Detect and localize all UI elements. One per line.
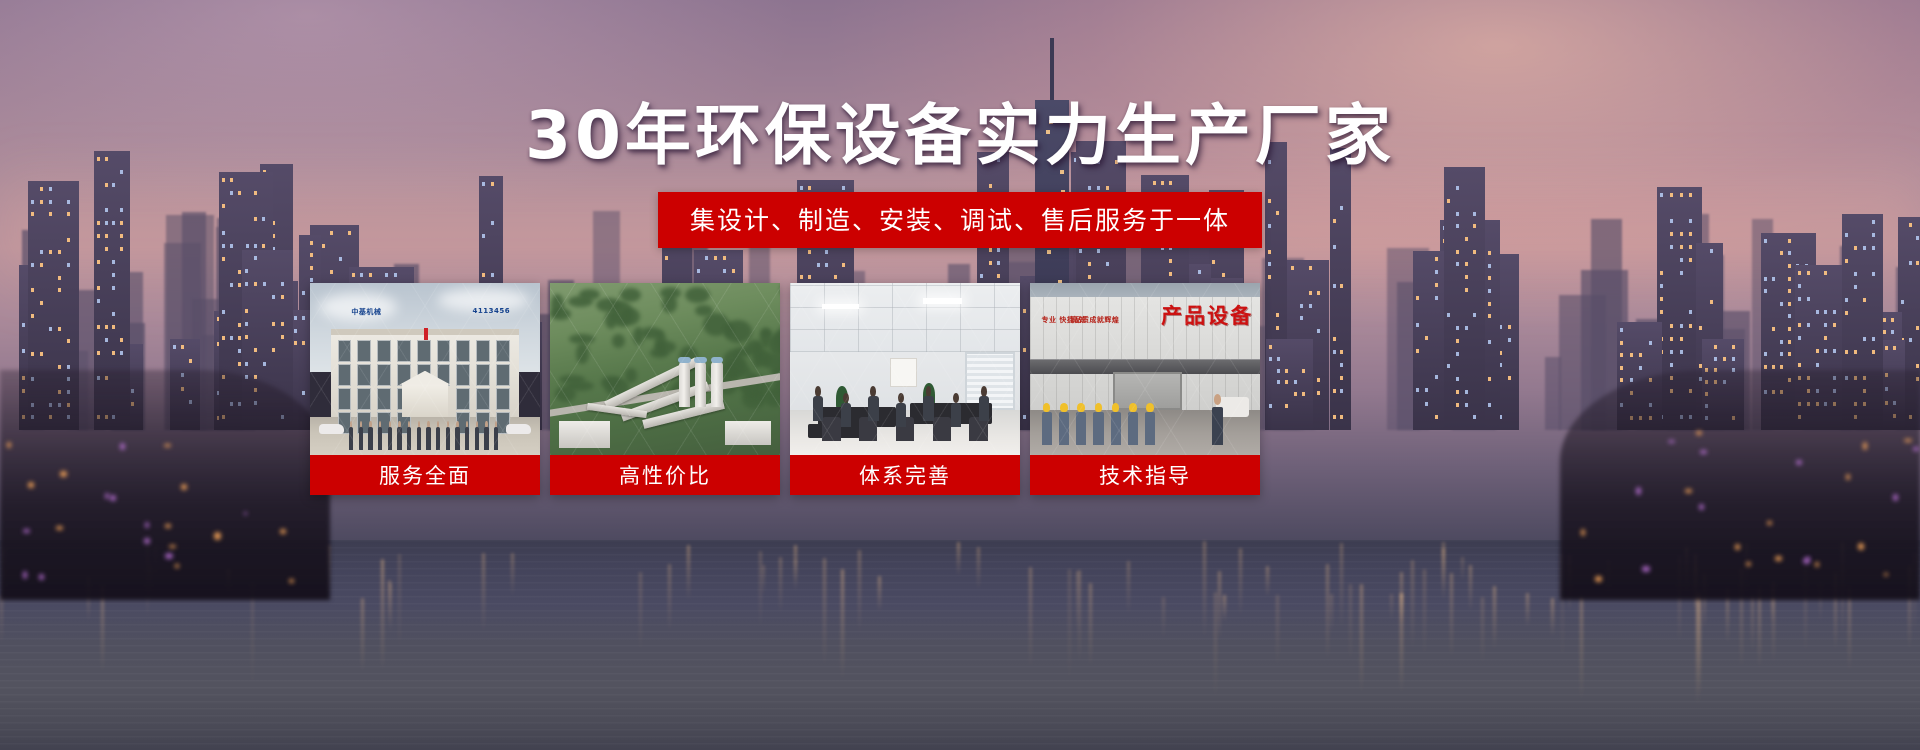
water-reflection xyxy=(1696,592,1699,705)
building-window xyxy=(357,340,371,362)
staff-person xyxy=(436,421,440,450)
building-window xyxy=(338,388,352,410)
shore-light xyxy=(244,512,247,515)
water-reflection xyxy=(1400,593,1403,622)
building-window xyxy=(456,388,470,410)
water-reflection xyxy=(687,545,690,600)
office-worker xyxy=(979,386,989,420)
card-2-photo xyxy=(550,283,780,455)
building-window xyxy=(338,364,352,386)
card-3-photo xyxy=(790,283,1020,455)
building-window xyxy=(377,340,391,362)
office-worker xyxy=(896,393,906,427)
feature-card-4[interactable]: 产品设备 专业 快捷品质 高效 成就辉煌 技术指导 xyxy=(1030,283,1260,495)
water-reflection xyxy=(1068,569,1071,682)
shore-light xyxy=(1775,556,1782,561)
staff-person xyxy=(359,421,363,450)
shore-light xyxy=(1796,460,1802,465)
water-reflection xyxy=(977,547,980,590)
water-reflection xyxy=(1423,569,1426,655)
parked-car xyxy=(506,424,531,434)
water-reflection xyxy=(1076,571,1079,633)
staff-person xyxy=(388,421,392,450)
tree-canopy xyxy=(612,334,626,348)
shore-light xyxy=(1815,562,1819,567)
water-reflection xyxy=(841,569,844,679)
subtitle-container: 集设计、制造、安装、调试、售后服务于一体 xyxy=(0,192,1920,248)
shore-light xyxy=(120,443,125,450)
office-chair xyxy=(969,417,987,441)
building-window xyxy=(476,340,490,362)
tree-canopy xyxy=(551,294,564,316)
staff-person xyxy=(378,421,382,450)
water-reflection xyxy=(482,553,485,633)
shore-light xyxy=(1893,494,1899,501)
water-reflection xyxy=(1848,588,1851,672)
tree-canopy xyxy=(685,287,710,303)
water-reflection xyxy=(398,554,401,650)
tree-canopy xyxy=(620,308,640,326)
water-reflection xyxy=(1340,543,1343,629)
building-window xyxy=(437,340,451,362)
building-window xyxy=(476,388,490,410)
building-window xyxy=(456,340,470,362)
building-window xyxy=(397,340,411,362)
shore-light xyxy=(1884,573,1888,576)
water-reflection xyxy=(794,559,797,583)
card-3-label: 体系完善 xyxy=(790,455,1020,495)
water-reflection xyxy=(1551,598,1554,636)
water-reflection xyxy=(1481,597,1484,664)
staff-person xyxy=(417,421,421,450)
tree-canopy xyxy=(605,311,617,329)
water-reflection xyxy=(668,564,671,633)
tree-canopy xyxy=(555,386,576,402)
water-reflection xyxy=(759,551,762,628)
water-reflection xyxy=(1390,594,1393,621)
shore-light xyxy=(1699,504,1704,510)
water-reflection xyxy=(1223,595,1226,621)
water-reflection xyxy=(1400,572,1403,626)
staff-person xyxy=(446,421,450,450)
water-reflection xyxy=(779,557,782,614)
factory-worker xyxy=(1093,400,1103,445)
feature-card-row: 中基机械 4113456 服务全面 xyxy=(310,283,1260,495)
card-2-label: 高性价比 xyxy=(550,455,780,495)
tree-canopy xyxy=(764,388,780,407)
water-reflection xyxy=(381,559,384,672)
building-window xyxy=(476,364,490,386)
feature-card-2[interactable]: 高性价比 xyxy=(550,283,780,495)
factory-worker xyxy=(1111,400,1121,445)
office-chair xyxy=(933,417,951,441)
water-reflection xyxy=(1089,583,1092,667)
shore-light xyxy=(280,529,285,534)
building-window xyxy=(496,364,510,386)
office-chair xyxy=(822,417,840,441)
water-reflection xyxy=(1029,567,1032,669)
card-4-photo: 产品设备 专业 快捷品质 高效 成就辉煌 xyxy=(1030,283,1260,455)
shore-right-trees xyxy=(1560,370,1920,600)
factory-worker xyxy=(1042,400,1052,445)
water-reflection xyxy=(1203,541,1206,638)
water-reflection xyxy=(1450,573,1453,659)
shore-light xyxy=(23,571,27,578)
water-reflection xyxy=(388,580,391,626)
shore-light xyxy=(1904,439,1911,443)
shore-light xyxy=(181,484,187,490)
water-reflection xyxy=(1266,566,1269,597)
water-reflection xyxy=(0,595,3,645)
tree-canopy xyxy=(620,288,641,302)
water-reflection xyxy=(1326,564,1329,659)
shore-light xyxy=(7,442,11,448)
building-window xyxy=(338,340,352,362)
office-worker xyxy=(868,386,878,420)
water-reflection xyxy=(1698,593,1701,697)
building-window xyxy=(496,388,510,410)
office-worker xyxy=(923,386,933,420)
water-reflection xyxy=(1276,595,1279,665)
water-reflection xyxy=(762,565,765,595)
feature-card-3[interactable]: 体系完善 xyxy=(790,283,1020,495)
building-window xyxy=(377,388,391,410)
water-reflection xyxy=(1239,548,1242,617)
shore-left-trees xyxy=(0,370,330,600)
subtitle-badge: 集设计、制造、安装、调试、售后服务于一体 xyxy=(658,192,1262,248)
feature-card-1[interactable]: 中基机械 4113456 服务全面 xyxy=(310,283,540,495)
factory-worker xyxy=(1059,400,1069,445)
office-worker xyxy=(951,393,961,427)
staff-person xyxy=(465,421,469,450)
factory-worker xyxy=(1076,400,1086,445)
shore-light xyxy=(165,524,171,527)
water-reflection xyxy=(878,576,881,612)
water-reflection xyxy=(823,558,826,666)
shore-light xyxy=(144,538,150,543)
water-reflection xyxy=(1411,560,1414,649)
factory-worker xyxy=(1145,400,1155,445)
water-reflection xyxy=(794,545,797,590)
card-4-factory-sign: 产品设备 xyxy=(1161,300,1253,330)
staff-person xyxy=(397,421,401,450)
water-reflection xyxy=(1442,542,1445,593)
building-window xyxy=(456,364,470,386)
tree-canopy xyxy=(724,320,752,343)
water-reflection xyxy=(858,550,861,634)
water-reflection xyxy=(389,583,392,633)
water-reflection xyxy=(1526,593,1529,627)
card-1-label: 服务全面 xyxy=(310,455,540,495)
shore-light xyxy=(110,495,115,501)
staff-person xyxy=(407,421,411,450)
water-reflection xyxy=(1078,570,1081,662)
card-1-phone-number: 4113456 xyxy=(473,307,511,315)
water-reflection xyxy=(1751,595,1754,653)
staff-person xyxy=(475,421,479,450)
water-reflection xyxy=(1469,565,1472,611)
shore-light xyxy=(60,471,66,478)
water-reflection xyxy=(361,598,364,673)
building-window xyxy=(377,364,391,386)
staff-person xyxy=(349,421,353,450)
tree-canopy xyxy=(559,375,585,384)
water-reflection xyxy=(1162,597,1165,638)
water-reflection xyxy=(1127,561,1130,615)
water-reflection xyxy=(1461,557,1464,582)
card-1-building-sign: 中基机械 xyxy=(351,307,381,317)
water-reflection xyxy=(1218,571,1221,640)
water-reflection xyxy=(1758,588,1761,669)
tree-canopy xyxy=(579,289,599,300)
promo-banner: 30年环保设备实力生产厂家 集设计、制造、安装、调试、售后服务于一体 中基机械 … xyxy=(0,0,1920,750)
water-reflection xyxy=(1360,584,1363,694)
staff-person xyxy=(368,421,372,450)
shore-light xyxy=(164,444,171,447)
building-window xyxy=(357,388,371,410)
skyline-building xyxy=(1266,339,1313,430)
water-reflection xyxy=(1214,592,1217,699)
tree-canopy xyxy=(662,295,677,312)
skyline-building xyxy=(1330,148,1351,430)
shore-light xyxy=(1581,529,1585,536)
card-4-slogan-right: 高效 成就辉煌 xyxy=(1071,316,1119,325)
tree-canopy xyxy=(655,341,676,352)
staff-person xyxy=(426,421,430,450)
water-reflection xyxy=(1493,586,1496,649)
shore-light xyxy=(1642,566,1649,572)
tree-canopy xyxy=(731,358,747,370)
building-window xyxy=(496,340,510,362)
shore-light xyxy=(1735,544,1740,550)
office-worker xyxy=(841,393,851,427)
shore-light xyxy=(1636,487,1642,495)
water-reflection xyxy=(1442,548,1445,602)
staff-person xyxy=(484,421,488,450)
water-reflection xyxy=(1349,584,1352,662)
water-reflection xyxy=(1580,595,1583,701)
shore-light xyxy=(105,493,109,499)
shore-light xyxy=(23,529,30,533)
card-4-label: 技术指导 xyxy=(1030,455,1260,495)
shore-light xyxy=(28,482,34,488)
page-title: 30年环保设备实力生产厂家 xyxy=(0,100,1920,171)
water-reflection xyxy=(1330,594,1333,634)
parked-car xyxy=(319,424,344,434)
shore-light xyxy=(1846,474,1850,480)
tree-canopy xyxy=(746,340,763,354)
tree-canopy xyxy=(641,327,661,338)
water-reflection xyxy=(957,542,960,576)
office-worker xyxy=(813,386,823,420)
tree-canopy xyxy=(761,353,780,369)
water-reflection xyxy=(639,572,642,651)
factory-worker xyxy=(1128,400,1138,445)
water-reflection xyxy=(1400,593,1403,693)
building-window xyxy=(357,364,371,386)
shore-light xyxy=(1858,543,1864,549)
office-chair xyxy=(859,417,877,441)
staff-person xyxy=(455,421,459,450)
shore-light xyxy=(175,564,179,567)
staff-person xyxy=(494,421,498,450)
card-1-photo: 中基机械 4113456 xyxy=(310,283,540,455)
building-window xyxy=(417,340,431,362)
water-reflection xyxy=(511,553,514,596)
